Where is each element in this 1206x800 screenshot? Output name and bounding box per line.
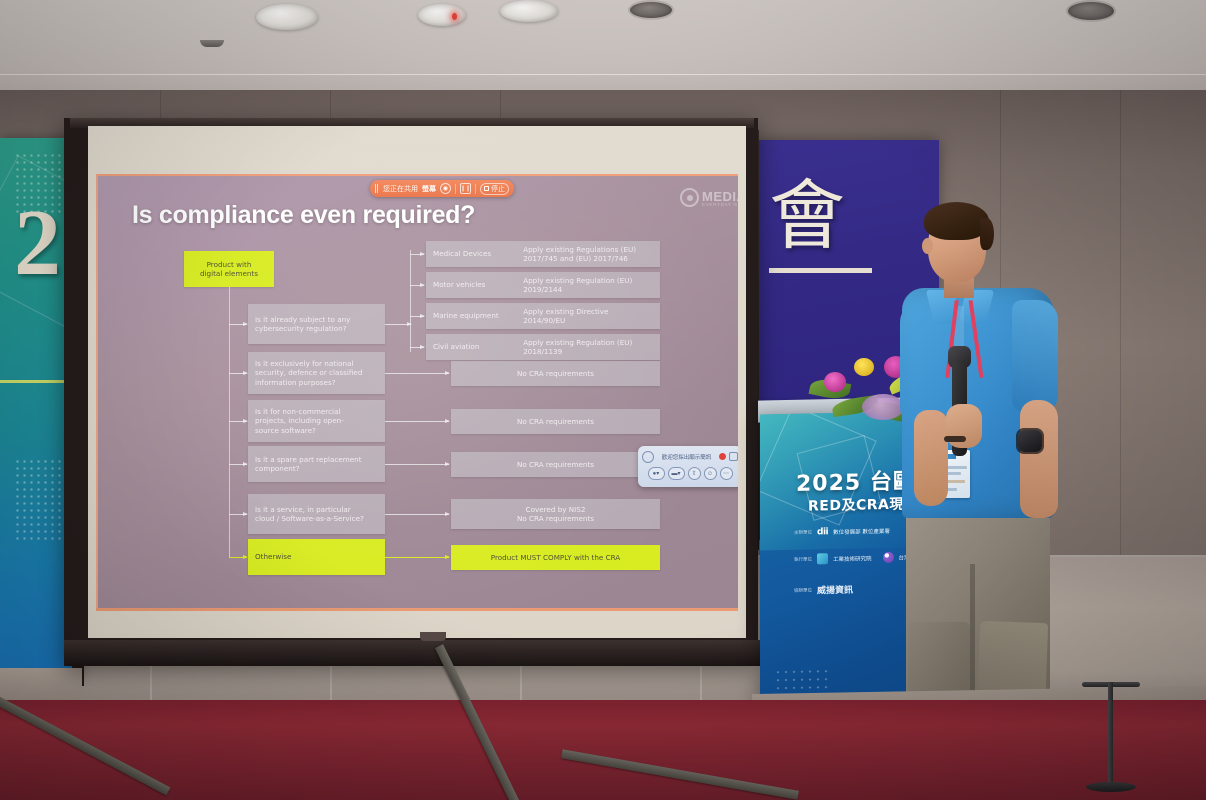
tw-logo-icon [883,552,894,563]
decision-label-line2: component? [255,464,299,474]
flow-arrow-to-d4 [229,464,247,465]
microphone-stand [1082,682,1142,794]
flow-spine [229,287,230,557]
smoke-detector-icon [418,4,466,26]
projector-screen-handle[interactable] [420,632,446,641]
decision-label-line1: Is it for non-commercial [255,407,340,417]
decision-label-line2: security, defence or classified [255,368,362,378]
flow-result-nis2: Covered by NIS2 No CRA requirements [451,499,660,529]
flow-arrow-to-otherwise [229,557,247,558]
flow-arrow-d5-out [385,514,449,515]
sector-action-line2: 2018/1139 [523,347,653,357]
decision-label-line1: Is it a service, in particular [255,505,351,515]
camera-control[interactable]: ▬▾ [668,467,685,480]
flower-magenta-icon [824,372,846,392]
flow-start-node: Product with digital elements [184,251,274,287]
recording-dot-icon[interactable] [719,453,726,460]
ceiling-seam [0,74,1206,75]
speaker-forearm-right [1020,400,1058,518]
decision-label-line3: information purposes? [255,378,336,388]
flow-arrow-sector-3 [410,347,424,348]
flow-node-otherwise: Otherwise [248,539,385,575]
speaker-hair-side [980,218,994,250]
flow-result-no-cra-3: No CRA requirements [451,452,660,477]
flow-arrow-sector-0 [410,254,424,255]
microphone-control[interactable]: ●▾ [648,467,665,480]
flower-yellow-icon [854,358,874,376]
flow-outcome-medical-devices: Medical Devices Apply existing Regulatio… [426,241,660,267]
flow-decision-spare-part: Is it a spare part replacement component… [248,446,385,482]
must-comply-text: Product MUST COMPLY with the CRA [491,553,620,563]
meeting-title: 歡迎您採出願示簡訊 [657,453,716,461]
flow-arrow-d2-out [385,373,449,374]
flower-cluster-icon [862,394,904,420]
share-screen-control[interactable]: ⇧ [688,467,701,480]
flow-decision-service-saas: Is it a service, in particular cloud / S… [248,494,385,534]
dii-logo-icon: dii [817,527,828,537]
decision-label-line1: Is it already subject to any [255,315,350,325]
flow-arrow-sector-1 [410,285,424,286]
result-text: No CRA requirements [517,460,594,470]
result-text: No CRA requirements [517,417,594,427]
flow-decision-existing-regulation: Is it already subject to any cybersecuri… [248,304,385,344]
sector-action-line1: Apply existing Regulation (EU) [523,276,653,286]
flow-arrow-to-d1 [229,324,247,325]
meeting-panel-header: chevron-right-icon 歡迎您採出願示簡訊 [642,449,738,464]
recessed-light-icon [500,0,558,22]
speaker-sleeve-right [1012,300,1058,412]
sponsor-row-partner: 協辦單位 威揚資訊 [794,583,853,597]
sponsor-row-organizer: 主辦單位 dii 數位發展部 數位產業署 [794,526,890,538]
sponsor-name: 工業技術研究院 [833,554,872,563]
sponsor-role-label: 協辦單位 [794,587,812,593]
ceiling-speaker-icon [1066,0,1116,22]
flow-arrow-d4-out [385,464,449,465]
sector-action-line1: Apply existing Directive [523,307,653,317]
flow-arrow-to-d2 [229,373,247,374]
decision-label-line2: cybersecurity regulation? [255,324,346,334]
result-line1: Covered by NIS2 [526,505,586,515]
flow-outcome-civil-aviation: Civil aviation Apply existing Regulation… [426,334,660,360]
flow-arrow-otherwise-out [385,557,449,558]
decision-label-line1: Is it exclusively for national [255,359,353,369]
sector-label: Civil aviation [433,342,523,352]
conference-room-scene: 20 會 您正在共用 螢幕 ◉ ❙❙ [0,0,1206,800]
flow-arrow-sector-2 [410,316,424,317]
chevron-right-icon[interactable]: chevron-right-icon [642,451,654,463]
lock-icon[interactable] [729,452,738,461]
flow-result-must-comply: Product MUST COMPLY with the CRA [451,545,660,570]
banner-chinese-glyph: 會 [769,178,845,254]
sponsor-name: 數位發展部 數位產業署 [833,527,890,536]
flow-outcome-marine-equipment: Marine equipment Apply existing Directiv… [426,303,660,329]
itri-logo-icon [817,553,828,564]
speaker-bracelet [944,436,966,442]
sponsor-name: 威揚資訊 [817,583,853,597]
sector-action-line1: Apply existing Regulation (EU) [523,338,653,348]
sector-label: Medical Devices [433,249,523,259]
flow-result-no-cra-2: No CRA requirements [451,409,660,434]
otherwise-label: Otherwise [255,552,291,562]
flow-decision-non-commercial: Is it for non-commercial projects, inclu… [248,400,385,442]
decision-label-line2: cloud / Software-as-a-Service? [255,514,364,524]
speaker-forearm-left [914,410,948,506]
floor-carpet [0,700,1206,800]
indicator-light-icon [452,13,457,20]
flow-start-line1: Product with [207,260,252,270]
sector-label: Marine equipment [433,311,523,321]
sector-label: Motor vehicles [433,280,523,290]
recessed-light-icon [256,4,318,30]
flow-arrow-to-d3 [229,421,247,422]
mic-stand-pole [1108,682,1113,786]
flow-decision-national-security: Is it exclusively for national security,… [248,352,385,394]
presentation-slide: 您正在共用 螢幕 ◉ ❙❙ 停止 MEDIATEK EVERYDAY GENIU… [96,174,738,611]
banner-divider [769,268,872,273]
meeting-panel-controls: ●▾ ▬▾ ⇧ ☺ ⋯ [642,467,738,480]
flow-arrow-d3-out [385,421,449,422]
decision-label-line2: projects, including open- [255,416,344,426]
projector-screen-surface: 您正在共用 螢幕 ◉ ❙❙ 停止 MEDIATEK EVERYDAY GENIU… [88,126,746,638]
ceiling [0,0,1206,96]
ceiling-sprinkler-icon [200,40,224,47]
meeting-control-panel[interactable]: chevron-right-icon 歡迎您採出願示簡訊 ●▾ ▬▾ ⇧ ☺ ⋯ [638,446,738,487]
result-line2: No CRA requirements [517,514,594,524]
flow-result-no-cra-1: No CRA requirements [451,361,660,386]
speaker-wristwatch [1018,430,1042,452]
more-control[interactable]: ⋯ [720,467,733,480]
projector-screen-bottom-bar [64,640,764,666]
decision-label-line3: source software? [255,426,316,436]
cable-cover [561,749,799,800]
sector-action-line1: Apply existing Regulations (EU) [523,245,653,255]
cable-cover [0,694,170,796]
sector-action-line2: 2014/90/EU [523,316,653,326]
decision-label-line1: Is it a spare part replacement [255,455,362,465]
ceiling-speaker-icon [628,0,674,20]
sector-action-line2: 2019/2144 [523,285,653,295]
flow-arrow-d1-out [385,324,411,325]
mic-stand-base [1086,782,1136,792]
flow-branch-spine [410,250,411,352]
sector-action-line2: 2017/745 and (EU) 2017/746 [523,254,653,264]
compliance-flowchart: Product with digital elements Is it alre… [96,174,738,611]
sponsor-role-label: 主辦單位 [794,529,812,535]
speaker-ear [922,238,933,254]
flow-arrow-to-d5 [229,514,247,515]
sponsor-role-label: 執行單位 [794,556,812,562]
flow-start-line2: digital elements [200,269,258,279]
flow-outcome-motor-vehicles: Motor vehicles Apply existing Regulation… [426,272,660,298]
result-text: No CRA requirements [517,369,594,379]
participants-control[interactable]: ☺ [704,467,717,480]
